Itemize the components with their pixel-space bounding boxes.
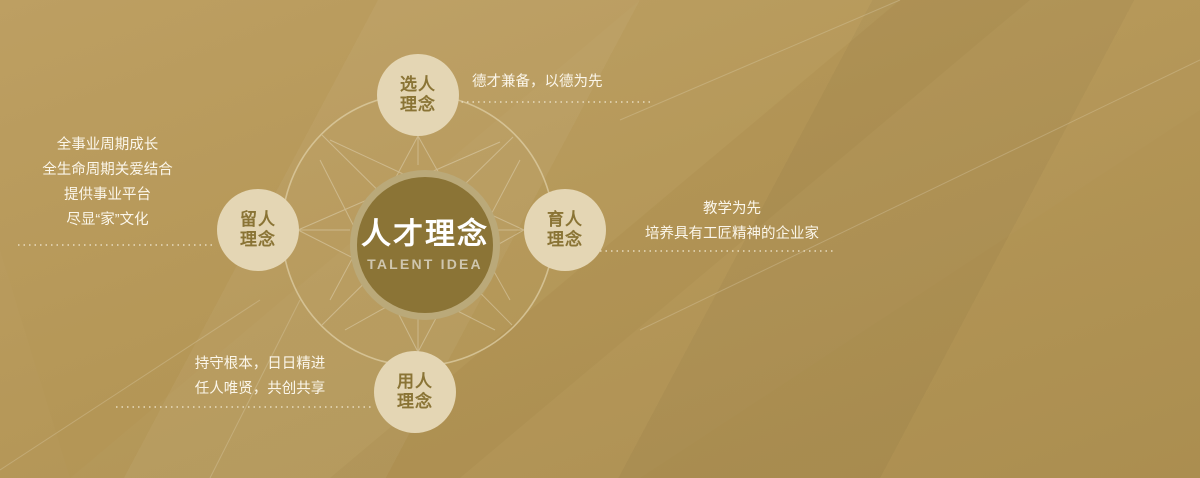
node-select-talent[interactable]: 选人 理念 [377,54,459,136]
node-select-label-2: 理念 [400,95,436,115]
talent-idea-infographic: 选人 理念 育人 理念 用人 理念 留人 理念 人才理念 TALENT IDEA… [0,0,1200,478]
node-deploy-talent[interactable]: 用人 理念 [374,351,456,433]
node-select-label-1: 选人 [400,75,436,95]
center-circle[interactable]: 人才理念 TALENT IDEA [350,170,500,320]
node-retain-label-2: 理念 [240,230,276,250]
node-deploy-label-1: 用人 [397,372,433,392]
node-develop-talent[interactable]: 育人 理念 [524,189,606,271]
node-retain-talent[interactable]: 留人 理念 [217,189,299,271]
node-develop-label-1: 育人 [547,210,583,230]
node-develop-label-2: 理念 [547,230,583,250]
node-retain-label-1: 留人 [240,210,276,230]
center-subtitle: TALENT IDEA [367,256,483,272]
center-title: 人才理念 [361,218,489,252]
node-deploy-label-2: 理念 [397,392,433,412]
